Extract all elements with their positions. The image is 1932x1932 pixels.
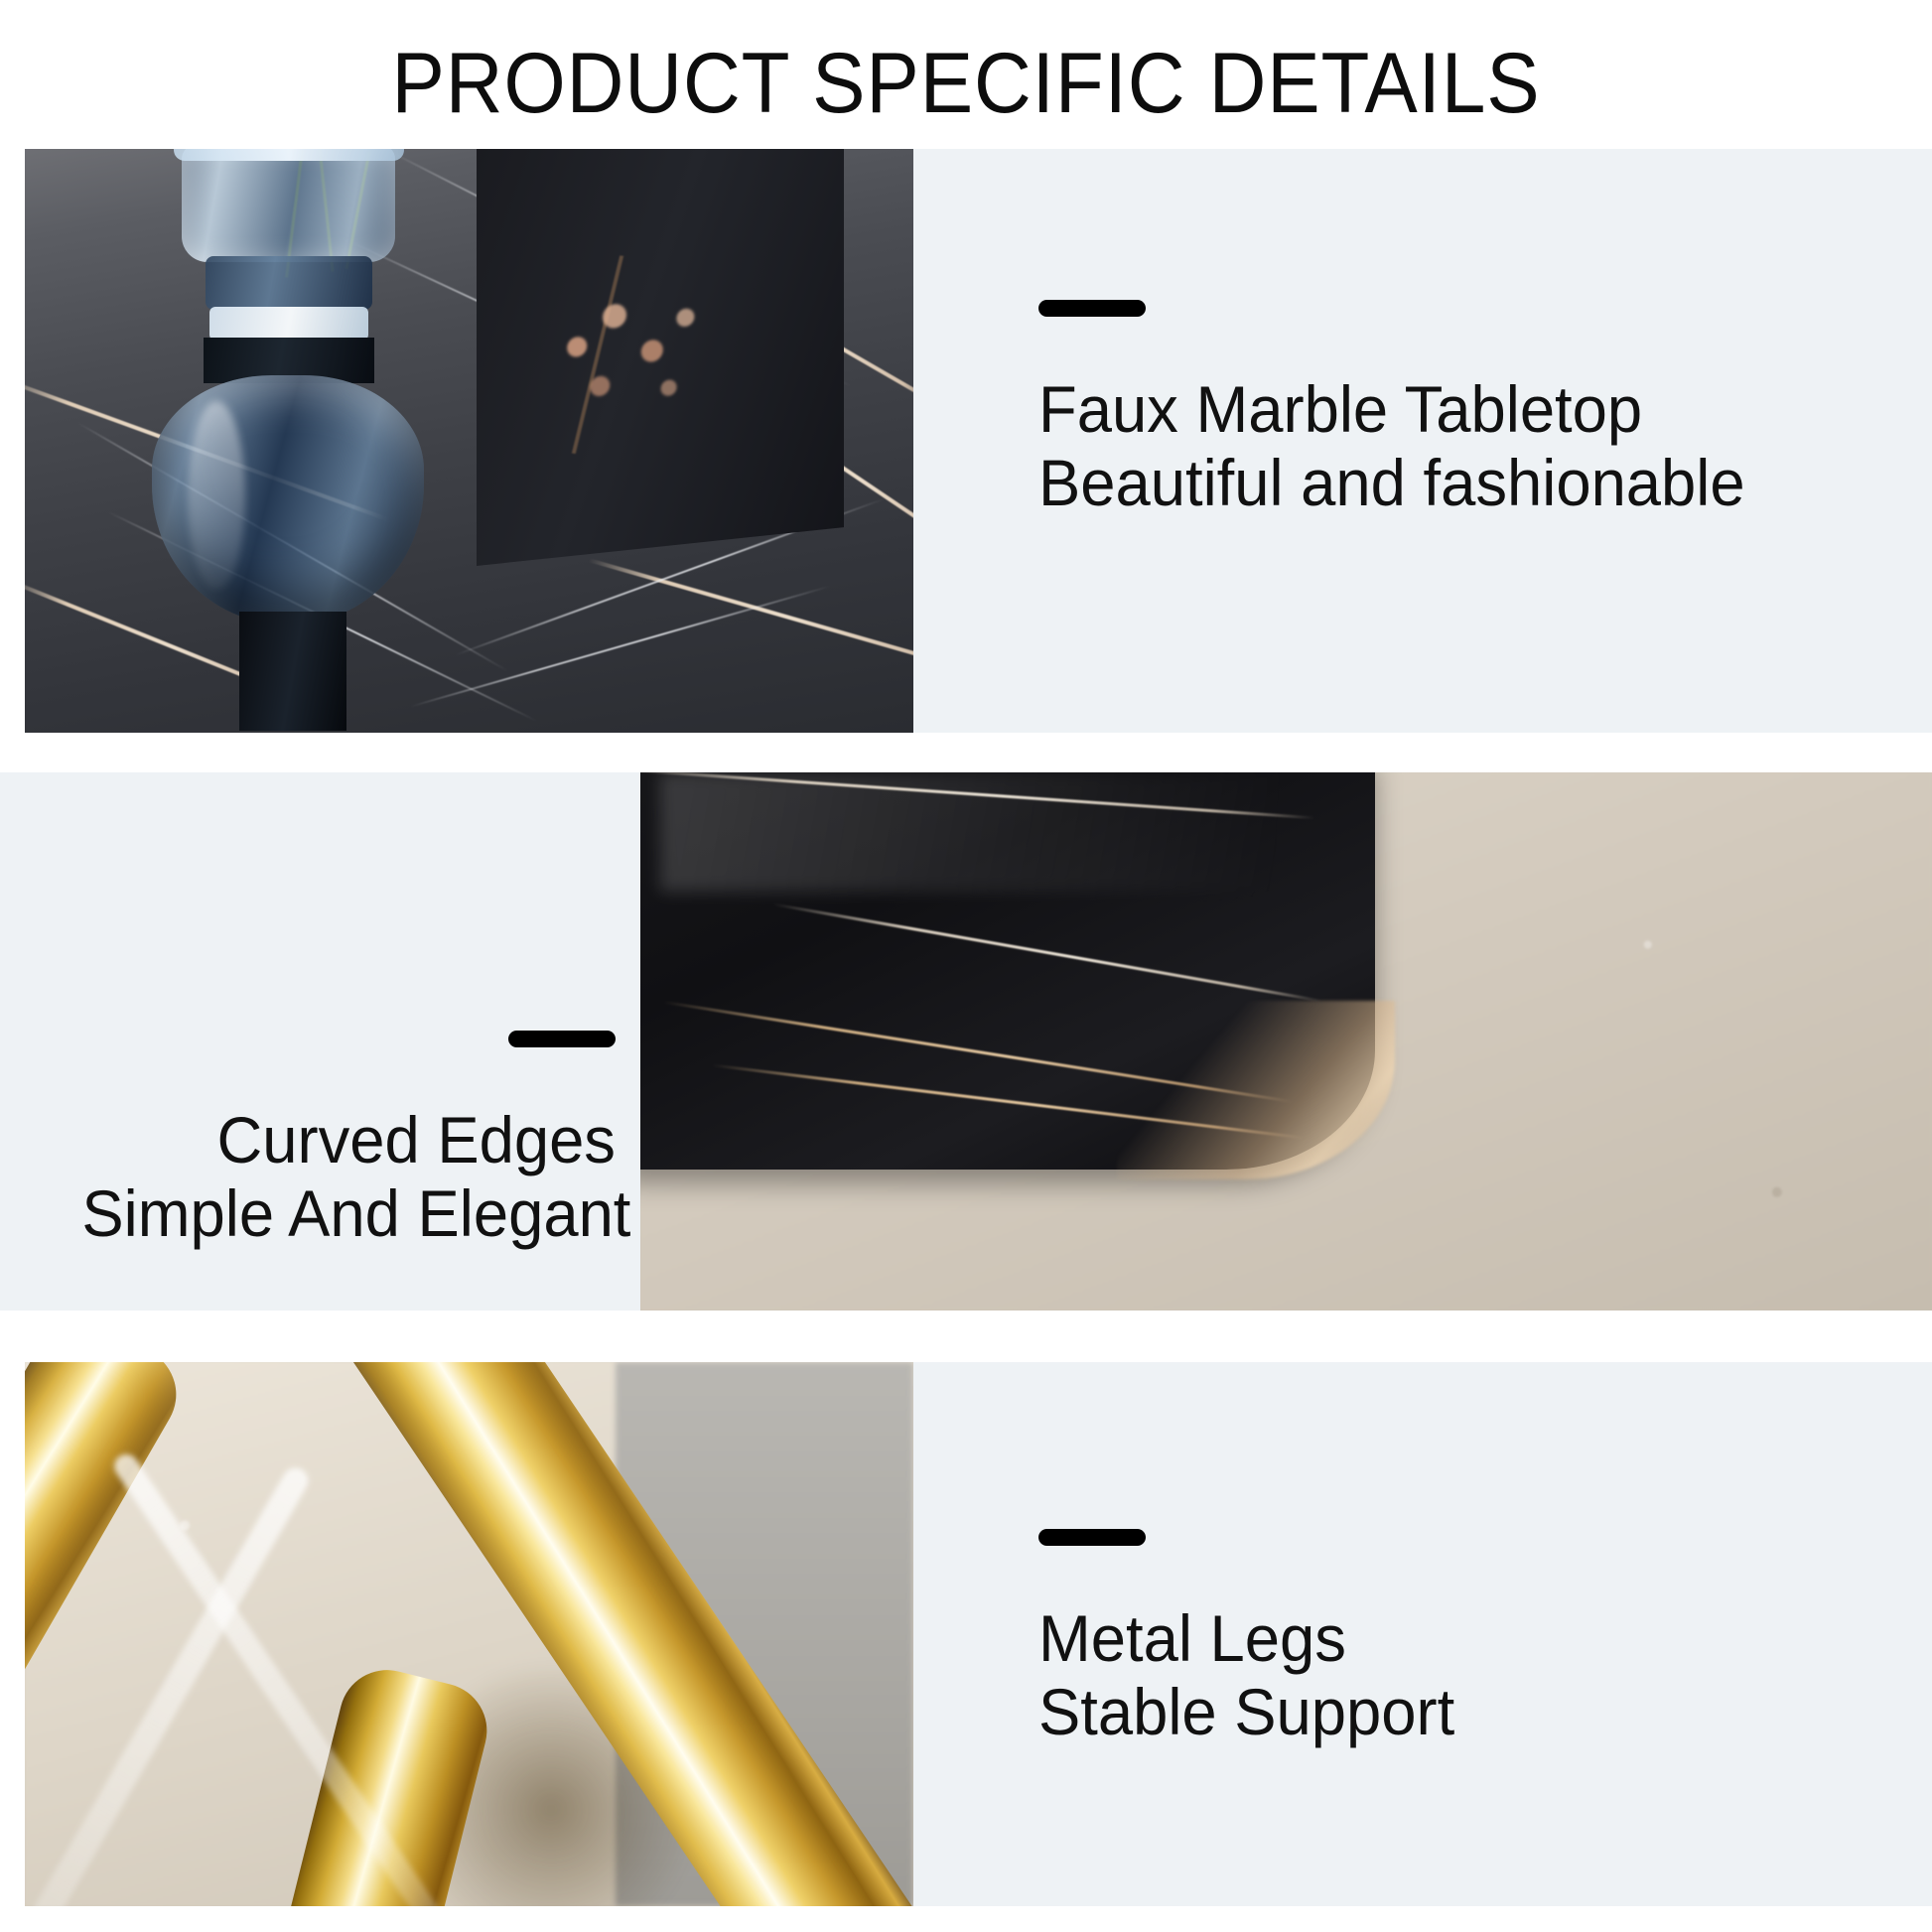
caption-metal-legs: Metal Legs Stable Support [1038, 1529, 1472, 1748]
section-faux-marble-tabletop: Faux Marble Tabletop Beautiful and fashi… [0, 149, 1932, 733]
glass-vase [144, 149, 432, 681]
caption-line-1: Curved Edges [81, 1103, 616, 1176]
caption-line-1: Metal Legs [1038, 1601, 1454, 1675]
section-curved-edges: Curved Edges Simple And Elegant [0, 772, 1932, 1311]
vase-collar [206, 256, 372, 310]
caption-curved-edges: Curved Edges Simple And Elegant [60, 1031, 616, 1250]
photo-metal-legs [25, 1362, 913, 1906]
caption-line-2: Stable Support [1038, 1675, 1454, 1748]
vase-lip [174, 149, 404, 161]
slate-vein [773, 902, 1321, 1002]
accent-dash-icon [1038, 1529, 1146, 1546]
tabletop-sheen [660, 772, 1276, 892]
vase-neck [182, 149, 395, 262]
page-title: PRODUCT SPECIFIC DETAILS [68, 36, 1864, 131]
vase-stem [239, 612, 346, 731]
vase-highlight [188, 401, 245, 590]
accent-dash-icon [508, 1031, 616, 1047]
caption-line-1: Faux Marble Tabletop [1038, 372, 1745, 446]
accent-dash-icon [1038, 300, 1146, 317]
blossom-cluster [531, 270, 740, 441]
framed-wall-art [477, 149, 844, 566]
caption-line-2: Beautiful and fashionable [1038, 446, 1745, 519]
caption-line-2: Simple And Elegant [81, 1176, 616, 1250]
photo-faux-marble-tabletop [25, 149, 913, 733]
section-metal-legs: Metal Legs Stable Support [0, 1362, 1932, 1906]
vase-clear-ring [209, 307, 368, 341]
caption-faux-marble-tabletop: Faux Marble Tabletop Beautiful and fashi… [1038, 300, 1774, 519]
photo-curved-edges [640, 772, 1932, 1311]
